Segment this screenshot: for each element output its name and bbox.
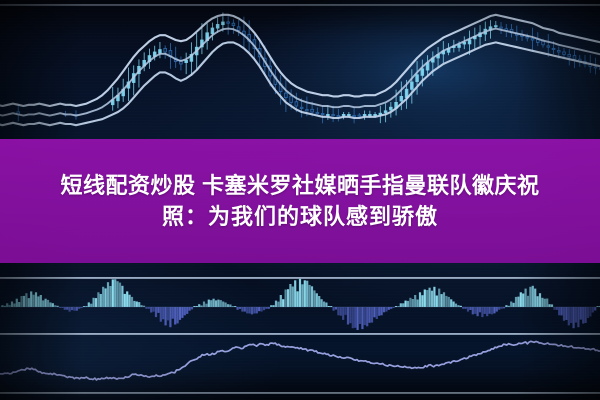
top-separator-rule	[0, 4, 600, 6]
headline-line-2: 照：为我们的球队感到骄傲	[162, 201, 438, 232]
thumbnail-image: 短线配资炒股 卡塞米罗社媒晒手指曼联队徽庆祝 照：为我们的球队感到骄傲	[0, 0, 600, 400]
bottom-separator-rule	[0, 392, 600, 394]
headline-line-1: 短线配资炒股 卡塞米罗社媒晒手指曼联队徽庆祝	[60, 170, 539, 201]
macd-bottom-separator-rule	[0, 333, 600, 335]
headline-band: 短线配资炒股 卡塞米罗社媒晒手指曼联队徽庆祝 照：为我们的球队感到骄傲	[0, 139, 600, 263]
macd-top-separator-rule	[0, 277, 600, 279]
